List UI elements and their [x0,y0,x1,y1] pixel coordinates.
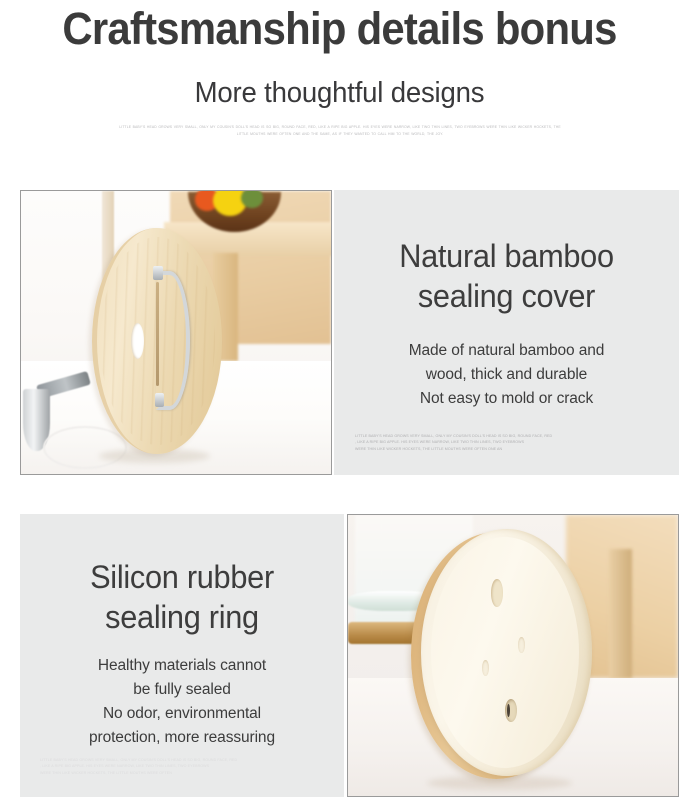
page-title: Craftsmanship details bonus [24,2,655,56]
copy-pane-bamboo-cover: Natural bamboo sealing cover Made of nat… [334,190,679,475]
feature-section-sealing-ring: Silicon rubber sealing ring Healthy mate… [20,514,679,797]
header-microcopy: LITTLE BABY'S HEAD GROWS VERY SMALL, ONL… [118,124,562,137]
microcopy-line: WERE THIN LIKE WICKER HOCKETS, THE LITTL… [355,446,661,452]
section-microcopy-bamboo-cover: LITTLE BABY'S HEAD GROWS VERY SMALL, ONL… [355,433,661,452]
body-line: be fully sealed [20,678,344,702]
heading-line: Natural bamboo [341,236,672,276]
page-subtitle: More thoughtful designs [17,76,662,110]
photo-vent-hole-bottom [505,699,517,722]
section-heading-bamboo-cover: Natural bamboo sealing cover [341,236,672,316]
product-photo-sealing-ring [347,514,679,797]
photo-bump-left [482,660,489,676]
photo-vent-hole-top [491,579,503,607]
photo-bamboo-lid [92,228,222,454]
section-body-bamboo-cover: Made of natural bamboo and wood, thick a… [334,339,679,411]
body-line: No odor, environmental [20,702,344,726]
photo-fruit-green [241,190,263,208]
heading-line: Silicon rubber [26,557,337,597]
photo-lid-inner-face [431,537,580,767]
body-line: Made of natural bamboo and [334,339,679,363]
section-microcopy-sealing-ring: LITTLE BABY'S HEAD GROWS VERY SMALL, ONL… [40,757,328,776]
body-line: Not easy to mold or crack [334,387,679,411]
heading-line: sealing cover [341,276,672,316]
photo-bump-right [518,637,525,653]
section-heading-sealing-ring: Silicon rubber sealing ring [26,557,337,637]
body-line: Healthy materials cannot [20,654,344,678]
copy-pane-sealing-ring: Silicon rubber sealing ring Healthy mate… [20,514,344,797]
photo-handle-cap-bottom [155,393,164,407]
product-photo-bamboo-cover [20,190,332,475]
heading-line: sealing ring [26,597,337,637]
photo-table-leg [609,549,632,678]
body-line: wood, thick and durable [334,363,679,387]
section-body-sealing-ring: Healthy materials cannot be fully sealed… [20,654,344,750]
microcopy-line: WERE THIN LIKE WICKER HOCKETS, THE LITTL… [40,770,328,776]
feature-section-bamboo-cover: Natural bamboo sealing cover Made of nat… [20,190,679,475]
photo-handle-cap-top [153,266,162,280]
body-line: protection, more reassuring [20,726,344,750]
